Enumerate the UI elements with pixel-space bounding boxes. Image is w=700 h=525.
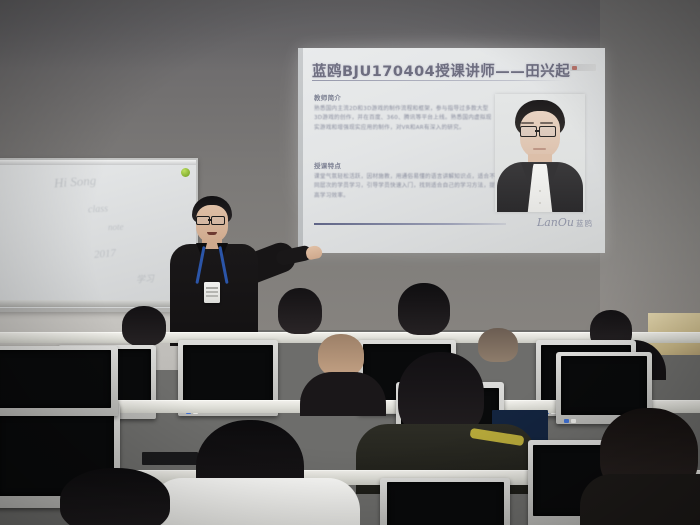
instructor-glasses-left (196, 216, 210, 225)
lanou-logo: LanOu蓝鸥 (537, 216, 593, 229)
whiteboard-scrawl: Hi Song (53, 173, 96, 192)
slide-title-underline (312, 80, 564, 81)
lanou-logo-cn: 蓝鸥 (576, 219, 593, 228)
student-shoulders (580, 474, 700, 525)
slide-body-1: 熟悉国内主流2D和3D游戏的制作流程和框架，参与指导过多款大型3D游戏的创作，并… (314, 105, 496, 133)
right-wall (600, 0, 700, 340)
monitor (0, 346, 118, 416)
slide-heading-2: 授课特点 (314, 160, 341, 170)
monitor-indicator-icon (564, 419, 576, 423)
whiteboard-scrawl: class (88, 203, 109, 215)
portrait-glasses-bridge (535, 130, 539, 132)
instructor-mouth (207, 232, 217, 235)
slide-footer-rule (314, 223, 506, 225)
monitor-screen (561, 356, 647, 415)
whiteboard-tray (0, 300, 194, 307)
instructor-glasses-right (211, 216, 225, 225)
projected-slide: 蓝鸥BJU170404授课讲师——田兴起 教师简介 熟悉国内主流2D和3D游戏的… (298, 48, 605, 253)
lanou-logo-latin: LanOu (537, 216, 574, 229)
student-white-shirt (150, 478, 360, 525)
student-head (398, 283, 450, 335)
whiteboard-scrawl: 学习 (136, 272, 155, 286)
keyboard (142, 452, 198, 465)
student-head (278, 288, 322, 334)
portrait-brow-right (540, 122, 553, 124)
student-head-bald (318, 334, 364, 376)
monitor-screen (183, 345, 273, 407)
slide-corner-badge-icon (570, 64, 596, 71)
portrait-mouth (533, 148, 546, 150)
instructor-pointing-hand (305, 244, 323, 260)
student-shoulders (300, 372, 386, 416)
classroom-photo: Hi Song class note 2017 学习 蓝鸥BJU170404授课… (0, 0, 700, 525)
whiteboard-magnet-icon (181, 168, 190, 177)
slide-title: 蓝鸥BJU170404授课讲师——田兴起 (312, 60, 570, 81)
monitor-screen (0, 350, 111, 407)
slide-body-2: 课堂气氛轻松活跃，因材施教，用通俗易懂的语言讲解知识点，适合不同层次的学员学习，… (314, 173, 496, 201)
instructor-glasses-bridge (208, 219, 211, 221)
portrait-button (539, 202, 541, 204)
slide-heading-1: 教师简介 (314, 92, 341, 102)
portrait-button (539, 190, 541, 192)
student-head (478, 328, 518, 362)
whiteboard-scrawl: 2017 (94, 247, 117, 261)
instructor-id-badge (204, 282, 220, 303)
monitor (380, 478, 510, 525)
instructor-portrait-photo (495, 94, 585, 212)
monitor-screen (387, 482, 504, 525)
student-head-front (60, 468, 170, 525)
student-head (122, 306, 166, 346)
portrait-glasses-right (539, 126, 556, 137)
whiteboard-scrawl: note (108, 222, 124, 233)
portrait-brow-left (521, 122, 534, 124)
whiteboard-rail (0, 160, 196, 165)
